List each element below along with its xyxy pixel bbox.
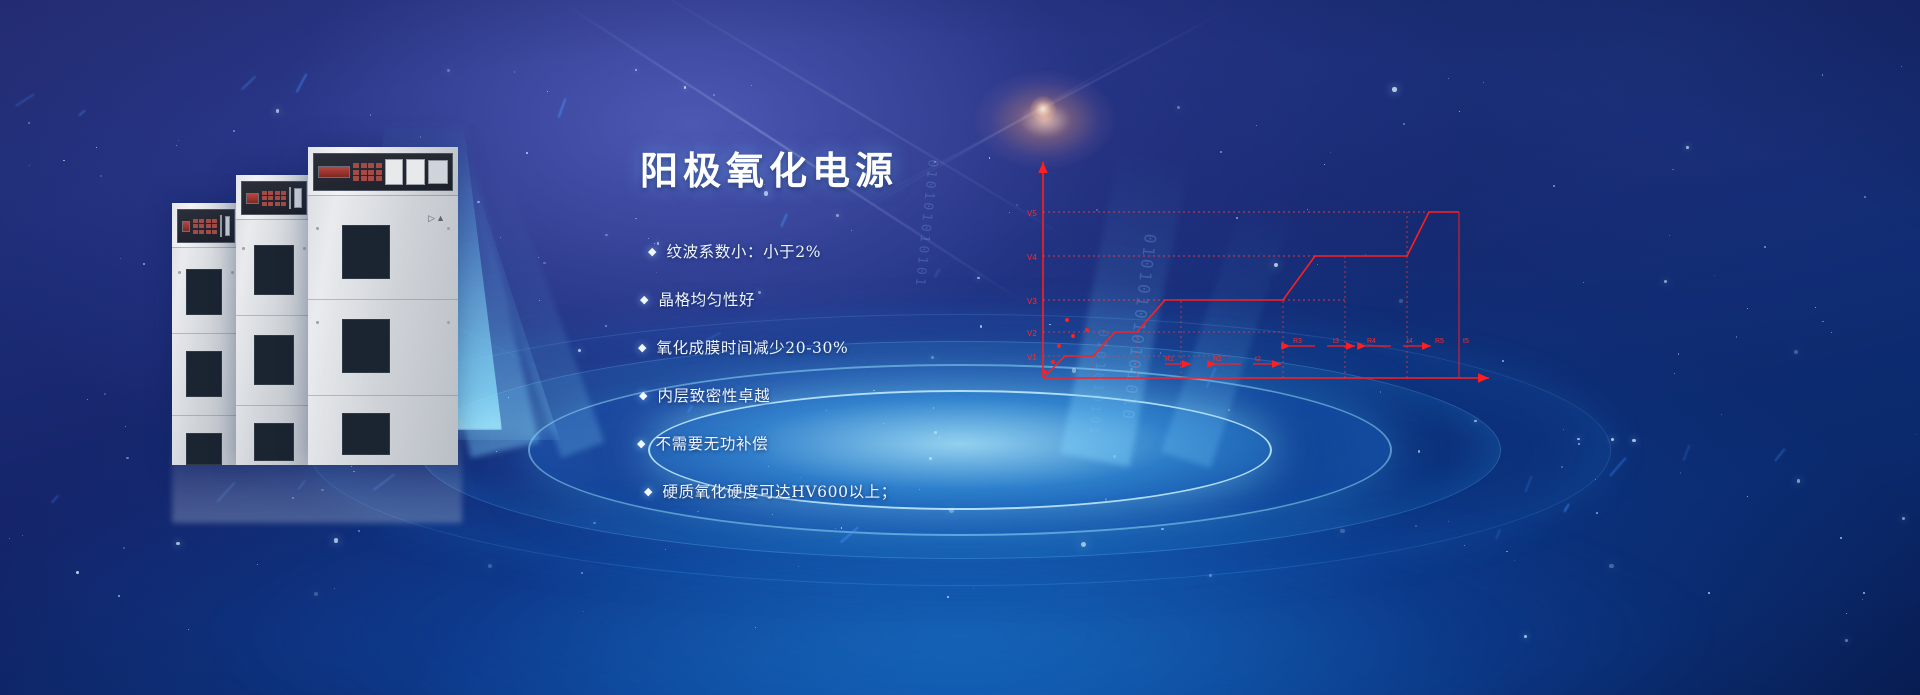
list-item: ◆ 纹波系数小：小于2% (648, 241, 1060, 263)
particle (1846, 613, 1848, 615)
particle (1096, 209, 1098, 211)
particle (1220, 151, 1222, 153)
breaker-switch-icon[interactable] (428, 160, 448, 184)
particle (1177, 106, 1180, 109)
particle (798, 566, 799, 567)
particle (1747, 496, 1748, 497)
list-item-label: 硬质氧化硬度可达HV600以上； (662, 481, 896, 503)
particle (500, 237, 501, 238)
particle (1714, 275, 1715, 276)
breaker-switch-icon[interactable] (225, 216, 230, 236)
particle (1577, 438, 1580, 441)
page-title: 阳极氧化电源 (640, 140, 1060, 195)
particle (9, 538, 11, 540)
cabinet-control-head (236, 175, 312, 220)
list-item-label: 内层致密性卓越 (657, 385, 770, 407)
particle (1317, 264, 1319, 266)
list-item: ◆ 不需要无功补偿 (637, 433, 1060, 455)
x-tick-t3: t3 (1333, 338, 1339, 345)
particle (1365, 254, 1366, 255)
particle (1228, 409, 1230, 411)
panel-label-card (289, 187, 291, 209)
keypad-icon[interactable] (193, 219, 218, 234)
particle (1483, 82, 1484, 83)
particle (1578, 443, 1580, 445)
particle (605, 234, 608, 237)
diamond-bullet-icon: ◆ (648, 241, 656, 263)
particle (1553, 185, 1556, 188)
particle (583, 611, 584, 612)
particle-shard (557, 98, 566, 117)
particle (581, 572, 583, 574)
particle (1448, 521, 1449, 522)
particle-shard (1774, 448, 1785, 461)
x-tick-t5: t5 (1463, 338, 1469, 345)
particle (578, 349, 581, 352)
particle (1902, 517, 1905, 520)
particle (488, 564, 492, 568)
particle (1596, 512, 1598, 514)
cabinet-vent-icon (342, 319, 390, 373)
x-tick-t2: t2 (1255, 356, 1261, 363)
particle (120, 258, 121, 259)
panel-label-card (385, 159, 404, 185)
particle (755, 627, 756, 628)
particle (538, 257, 540, 259)
x-tick-t4: t4 (1407, 338, 1413, 345)
list-item: ◆ 晶格均匀性好 (640, 289, 1060, 311)
particle (1686, 146, 1689, 149)
lcd-display-icon (182, 221, 190, 232)
particle (1736, 336, 1738, 338)
particle (1081, 542, 1086, 547)
particle (257, 564, 258, 565)
lcd-display-icon (318, 166, 350, 178)
lcd-display-icon (246, 193, 259, 204)
list-item-label: 纹波系数小：小于2% (666, 241, 821, 263)
diamond-bullet-icon: ◆ (638, 337, 646, 359)
cabinet-vent-icon (186, 433, 222, 465)
particle (126, 457, 128, 459)
particle (1418, 450, 1420, 452)
particle (1399, 299, 1403, 303)
particle (314, 592, 318, 596)
particle (1415, 525, 1417, 527)
diamond-bullet-icon: ◆ (639, 385, 647, 407)
particle-shard (1610, 458, 1627, 477)
particle (1514, 560, 1515, 561)
particle (973, 588, 974, 589)
particle (1474, 420, 1477, 423)
particle (1459, 111, 1460, 112)
list-item: ◆ 氧化成膜时间减少20-30% (638, 337, 1060, 359)
keypad-icon[interactable] (353, 163, 382, 181)
particle-shard (840, 527, 858, 543)
particle (1632, 439, 1635, 442)
diamond-bullet-icon: ◆ (644, 481, 652, 503)
annotation-r4: R4 (1367, 338, 1376, 345)
list-item-label: 晶格均匀性好 (658, 289, 755, 311)
particle (1561, 466, 1563, 468)
particle (1901, 66, 1902, 67)
list-item: ◆ 硬质氧化硬度可达HV600以上； (644, 481, 1060, 503)
particle-shard (79, 110, 86, 117)
particle-shard (297, 479, 306, 489)
particle (1072, 368, 1077, 373)
particle-shard (1682, 445, 1690, 461)
particle (104, 393, 106, 395)
particle (118, 595, 120, 597)
particle (1403, 123, 1405, 125)
particle-shard (217, 482, 236, 503)
particle (1863, 592, 1866, 595)
particle (1324, 164, 1325, 165)
particle (22, 535, 23, 536)
particle (358, 530, 360, 532)
particle (684, 86, 687, 89)
binary-code-decor: 010101010101010 (1118, 233, 1160, 423)
particle (1524, 635, 1527, 638)
particle (334, 588, 335, 589)
particle (1113, 455, 1116, 458)
cabinet-vent-icon (186, 351, 222, 397)
particle (1274, 263, 1278, 267)
particle (593, 522, 596, 525)
particle (496, 451, 497, 452)
particle (63, 160, 65, 162)
particle (1256, 125, 1257, 126)
cabinet-vent-icon (254, 423, 294, 461)
particle (543, 262, 545, 264)
particle (1794, 350, 1798, 354)
particle (539, 300, 540, 301)
keypad-icon[interactable] (262, 191, 287, 206)
cabinet-vent-icon (254, 335, 294, 385)
particle (1680, 472, 1682, 474)
control-panel[interactable] (313, 153, 453, 191)
banner-content: 阳极氧化电源 ◆ 纹波系数小：小于2% ◆ 晶格均匀性好 ◆ 氧化成膜时间减少2… (640, 140, 1060, 529)
cabinet-vent-icon (342, 413, 390, 455)
power-cabinet (236, 175, 312, 465)
cabinet-vent-icon (186, 269, 222, 315)
particle (665, 549, 666, 550)
particle (1392, 87, 1396, 91)
control-panel[interactable] (177, 209, 235, 243)
annotation-r2: R2 (1213, 356, 1222, 363)
particle (1862, 599, 1863, 600)
particle (1840, 537, 1842, 539)
particle (1678, 353, 1680, 355)
particle (1674, 373, 1675, 374)
annotation-r1: R1 (1165, 356, 1174, 363)
particle (1611, 438, 1614, 441)
cabinet-control-head (308, 147, 458, 196)
particle (1831, 332, 1832, 333)
particle (321, 489, 324, 492)
particle (28, 122, 30, 124)
light-ray-icon (1161, 186, 1297, 468)
particle (1583, 282, 1584, 283)
cabinet-control-head (172, 203, 240, 248)
particle (508, 397, 509, 398)
particle-shard (51, 494, 59, 503)
list-item-label: 氧化成膜时间减少20-30% (656, 337, 848, 359)
particle (1464, 545, 1465, 546)
particle (1845, 639, 1848, 642)
particle (751, 85, 752, 86)
particle (1563, 429, 1565, 431)
particle (87, 399, 88, 400)
cabinet-vent-icon (254, 245, 294, 295)
particle (143, 263, 145, 265)
light-ray-icon (1061, 149, 1189, 467)
power-cabinet: ▷▲ (308, 147, 458, 465)
particle (1340, 529, 1345, 534)
particle (1448, 78, 1450, 80)
particle (447, 69, 450, 72)
particle (547, 91, 548, 92)
annotation-r5: R5 (1435, 338, 1444, 345)
particle (514, 71, 516, 73)
cabinet-body: ▷▲ (308, 195, 458, 465)
panel-label-card (406, 159, 425, 185)
particle (1236, 217, 1239, 220)
breaker-switch-icon[interactable] (294, 188, 302, 208)
list-item-label: 不需要无功补偿 (655, 433, 768, 455)
cabinet-body (236, 219, 312, 465)
particle (1307, 209, 1309, 211)
particle (1130, 368, 1133, 371)
particle (947, 596, 949, 598)
binary-code-decor: 0101010101 (1086, 329, 1110, 438)
particle (1764, 246, 1766, 248)
particle (1209, 574, 1212, 577)
diamond-bullet-icon: ◆ (637, 433, 645, 455)
particle (1502, 360, 1504, 362)
particle-shard (15, 93, 34, 107)
brand-mark: ▷▲ (428, 213, 446, 224)
banner-stage: 0101010101010101 010101010101 0101010101… (0, 0, 1920, 695)
particle (292, 497, 294, 499)
cabinet-body (172, 247, 240, 465)
particle (176, 542, 179, 545)
feature-list: ◆ 纹波系数小：小于2% ◆ 晶格均匀性好 ◆ 氧化成膜时间减少20-30% ◆… (640, 241, 1060, 503)
particle-shard (1495, 529, 1501, 539)
particle (29, 165, 30, 166)
voltage-staircase-chart: V5 V4 V3 V2 V1 R1 R2 t2 R3 t3 R4 t4 R5 t… (1015, 150, 1505, 400)
particle (605, 325, 607, 327)
chart-svg: V5 V4 V3 V2 V1 R1 R2 t2 R3 t3 R4 t4 R5 t… (1015, 150, 1505, 400)
control-panel[interactable] (241, 181, 307, 215)
particle (1380, 391, 1382, 393)
particle (351, 466, 352, 467)
panel-label-card (220, 215, 222, 237)
particle (1160, 352, 1162, 354)
particle-shard (1564, 504, 1570, 513)
particle (1822, 74, 1823, 75)
particle (123, 547, 125, 549)
particle (96, 147, 97, 148)
particle (1669, 235, 1670, 236)
particle (125, 426, 126, 427)
particle (334, 538, 338, 542)
particle (1161, 528, 1163, 530)
particle (1506, 551, 1508, 553)
particle (1721, 414, 1722, 415)
diamond-bullet-icon: ◆ (640, 289, 648, 311)
particle (635, 218, 637, 220)
particle (1708, 592, 1710, 594)
particle (635, 69, 638, 72)
particle (1595, 479, 1596, 480)
particle (1822, 321, 1824, 323)
particle (1664, 280, 1668, 284)
particle (1105, 498, 1108, 501)
power-cabinet-group: ▷▲ (172, 85, 482, 465)
particle-shard (373, 473, 395, 490)
particle (526, 152, 528, 154)
particle (1330, 152, 1331, 153)
particle (1672, 169, 1674, 171)
particle (1864, 196, 1865, 197)
staircase-line (1043, 212, 1459, 378)
particle-shard (1525, 476, 1533, 493)
particle (713, 94, 715, 96)
particle-shard (1206, 368, 1217, 389)
particle (1915, 434, 1916, 435)
particle (1609, 564, 1614, 569)
particle (188, 629, 189, 630)
annotation-r3: R3 (1293, 338, 1302, 345)
particle (76, 571, 79, 574)
particle (1815, 307, 1817, 309)
particle (100, 175, 102, 177)
list-item: ◆ 内层致密性卓越 (639, 385, 1060, 407)
cabinet-vent-icon (342, 225, 390, 279)
lens-flare-core-icon (1030, 96, 1056, 122)
particle (353, 471, 355, 473)
particle (1797, 479, 1801, 483)
power-cabinet (172, 203, 240, 465)
particle (1747, 308, 1749, 310)
